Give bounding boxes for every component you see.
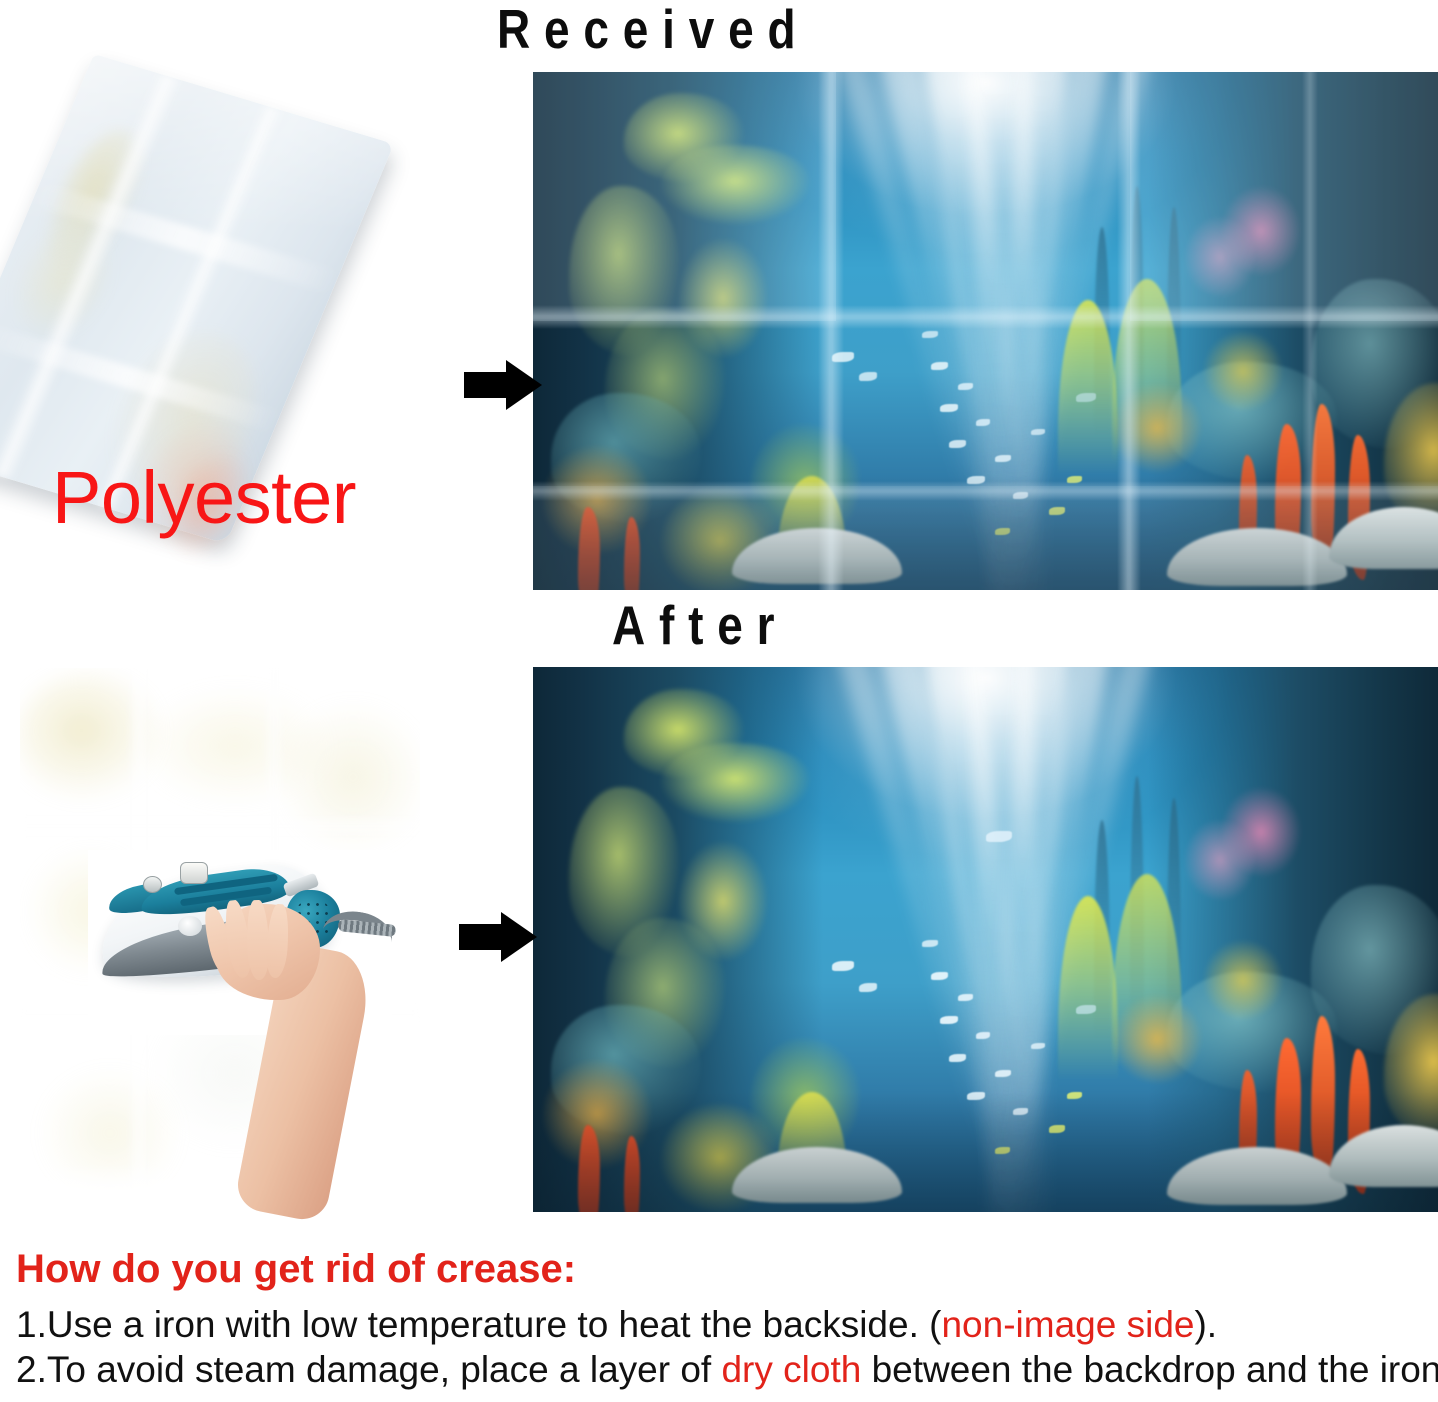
arrow-head	[506, 360, 542, 410]
care-step-1: 1.Use a iron with low temperature to hea…	[16, 1302, 1426, 1347]
care-step-2-highlight: dry cloth	[721, 1349, 861, 1390]
received-backdrop-photo	[533, 72, 1438, 590]
care-step-1-suffix: ).	[1194, 1304, 1217, 1345]
fabric-crease-line	[20, 814, 420, 838]
iron-steam-knob	[180, 862, 208, 884]
received-section-title: Received	[497, 0, 809, 61]
iron-hand-photo	[88, 850, 392, 1035]
care-instructions-heading: How do you get rid of crease:	[16, 1248, 1426, 1290]
care-instructions-block: How do you get rid of crease: 1.Use a ir…	[16, 1248, 1426, 1392]
polyester-material-label: Polyester	[52, 455, 356, 540]
folded-fabric-photo	[18, 78, 438, 498]
care-step-2-prefix: 2.To avoid steam damage, place a layer o…	[16, 1349, 721, 1390]
arrow-shaft	[459, 924, 503, 950]
reef-scene	[533, 72, 1438, 590]
arrow-shaft	[464, 372, 508, 398]
care-step-2-suffix: between the backdrop and the iron.	[861, 1349, 1438, 1390]
right-arrow-icon	[464, 360, 544, 410]
after-backdrop-photo	[533, 667, 1438, 1212]
arrow-head	[501, 912, 537, 962]
care-step-1-prefix: 1.Use a iron with low temperature to hea…	[16, 1304, 941, 1345]
seafloor-shadow	[533, 1092, 1438, 1212]
fabric-bottom-edge	[20, 1164, 420, 1190]
iron-spray-button	[143, 876, 162, 893]
right-arrow-icon	[459, 912, 539, 962]
reef-scene	[533, 667, 1438, 1212]
care-step-1-highlight: non-image side	[941, 1304, 1194, 1345]
care-step-2: 2.To avoid steam damage, place a layer o…	[16, 1347, 1426, 1392]
iron-temperature-dial	[178, 916, 202, 936]
after-section-title: After	[612, 593, 788, 657]
seafloor-shadow	[533, 476, 1438, 590]
